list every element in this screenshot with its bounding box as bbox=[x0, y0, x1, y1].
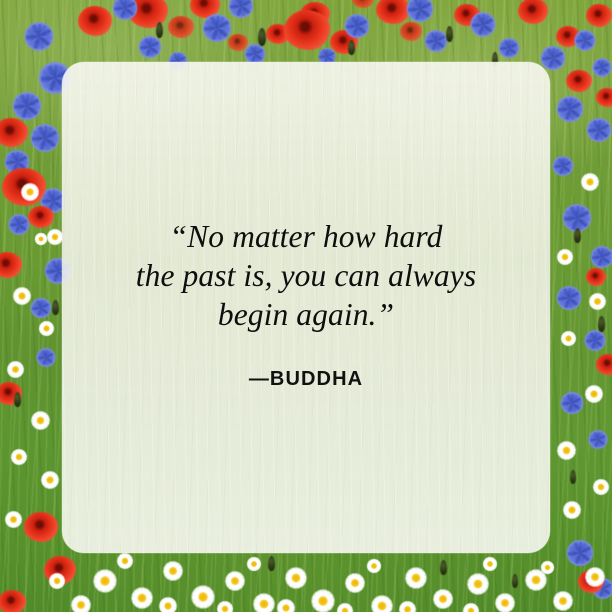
daisy-flower bbox=[592, 478, 610, 496]
daisy-flower bbox=[404, 566, 428, 590]
daisy-flower bbox=[20, 182, 40, 202]
cornflower-flower bbox=[592, 58, 612, 77]
seed-bud bbox=[258, 28, 266, 46]
daisy-flower bbox=[482, 556, 498, 572]
seed-bud bbox=[440, 560, 447, 575]
daisy-flower bbox=[432, 588, 454, 610]
daisy-flower bbox=[70, 594, 92, 612]
poppy-flower bbox=[78, 6, 112, 36]
daisy-flower bbox=[252, 592, 276, 612]
cornflower-flower bbox=[560, 392, 584, 414]
cornflower-flower bbox=[424, 30, 448, 52]
daisy-flower bbox=[30, 410, 51, 431]
daisy-flower bbox=[10, 448, 28, 466]
daisy-flower bbox=[584, 384, 604, 404]
cornflower-flower bbox=[30, 298, 52, 318]
quote-attribution: —BUDDHA bbox=[88, 368, 524, 391]
cornflower-flower bbox=[344, 14, 370, 38]
seed-bud bbox=[52, 300, 59, 315]
seed-bud bbox=[512, 574, 518, 588]
daisy-flower bbox=[40, 470, 60, 490]
cornflower-flower bbox=[556, 286, 582, 310]
daisy-flower bbox=[34, 232, 48, 246]
seed-bud bbox=[570, 470, 576, 484]
cornflower-flower bbox=[138, 36, 162, 58]
daisy-flower bbox=[162, 560, 184, 582]
daisy-flower bbox=[398, 600, 417, 612]
cornflower-flower bbox=[24, 22, 54, 51]
poppy-flower bbox=[586, 4, 612, 27]
daisy-flower bbox=[466, 572, 490, 596]
quote-block: “No matter how hard the past is, you can… bbox=[62, 217, 550, 391]
daisy-flower bbox=[38, 320, 55, 337]
daisy-flower bbox=[560, 330, 577, 347]
poppy-flower bbox=[0, 590, 26, 612]
daisy-flower bbox=[494, 592, 516, 612]
poppy-flower bbox=[284, 10, 330, 50]
seed-bud bbox=[574, 228, 581, 243]
poppy-flower bbox=[586, 268, 606, 286]
daisy-flower bbox=[116, 552, 134, 570]
cornflower-flower bbox=[244, 44, 266, 64]
seed-bud bbox=[156, 22, 163, 38]
daisy-flower bbox=[276, 598, 296, 612]
daisy-flower bbox=[158, 596, 178, 612]
daisy-flower bbox=[246, 556, 262, 572]
cornflower-flower bbox=[202, 14, 232, 42]
daisy-flower bbox=[130, 586, 154, 610]
quote-text: “No matter how hard the past is, you can… bbox=[88, 217, 524, 334]
poppy-flower bbox=[28, 206, 54, 228]
daisy-flower bbox=[310, 588, 336, 612]
daisy-flower bbox=[556, 440, 577, 461]
daisy-flower bbox=[580, 172, 600, 192]
cornflower-flower bbox=[30, 124, 60, 152]
poppy-flower bbox=[400, 22, 422, 41]
cornflower-flower bbox=[36, 348, 56, 367]
cornflower-flower bbox=[588, 430, 608, 449]
daisy-flower bbox=[190, 584, 216, 610]
cornflower-flower bbox=[584, 330, 606, 351]
daisy-flower bbox=[284, 566, 308, 590]
poppy-flower bbox=[24, 512, 58, 542]
poppy-flower bbox=[168, 16, 194, 38]
daisy-flower bbox=[584, 566, 606, 588]
daisy-flower bbox=[540, 560, 555, 575]
daisy-flower bbox=[588, 292, 607, 311]
daisy-flower bbox=[224, 570, 246, 592]
cornflower-flower bbox=[540, 46, 566, 70]
daisy-flower bbox=[556, 248, 574, 266]
seed-bud bbox=[14, 392, 21, 407]
daisy-flower bbox=[366, 558, 382, 574]
cornflower-flower bbox=[556, 96, 584, 122]
cornflower-flower bbox=[470, 12, 496, 37]
cornflower-flower bbox=[8, 214, 30, 235]
daisy-flower bbox=[92, 568, 118, 594]
daisy-flower bbox=[4, 510, 23, 529]
seed-bud bbox=[348, 40, 355, 55]
daisy-flower bbox=[344, 572, 366, 594]
daisy-flower bbox=[216, 600, 234, 612]
cornflower-flower bbox=[574, 30, 596, 51]
poppy-flower bbox=[566, 70, 592, 92]
seed-bud bbox=[598, 316, 605, 332]
quote-image: “No matter how hard the past is, you can… bbox=[0, 0, 612, 612]
cornflower-flower bbox=[12, 92, 42, 120]
seed-bud bbox=[268, 556, 275, 571]
daisy-flower bbox=[48, 572, 66, 590]
quote-card: “No matter how hard the past is, you can… bbox=[62, 62, 550, 553]
cornflower-flower bbox=[590, 246, 612, 268]
cornflower-flower bbox=[586, 118, 612, 142]
daisy-flower bbox=[552, 590, 574, 612]
daisy-flower bbox=[6, 360, 25, 379]
seed-bud bbox=[446, 26, 453, 42]
cornflower-flower bbox=[552, 156, 574, 176]
daisy-flower bbox=[370, 594, 394, 612]
daisy-flower bbox=[562, 500, 582, 520]
cornflower-flower bbox=[566, 540, 594, 566]
cornflower-flower bbox=[498, 38, 520, 58]
poppy-flower bbox=[596, 88, 612, 107]
daisy-flower bbox=[12, 286, 32, 306]
